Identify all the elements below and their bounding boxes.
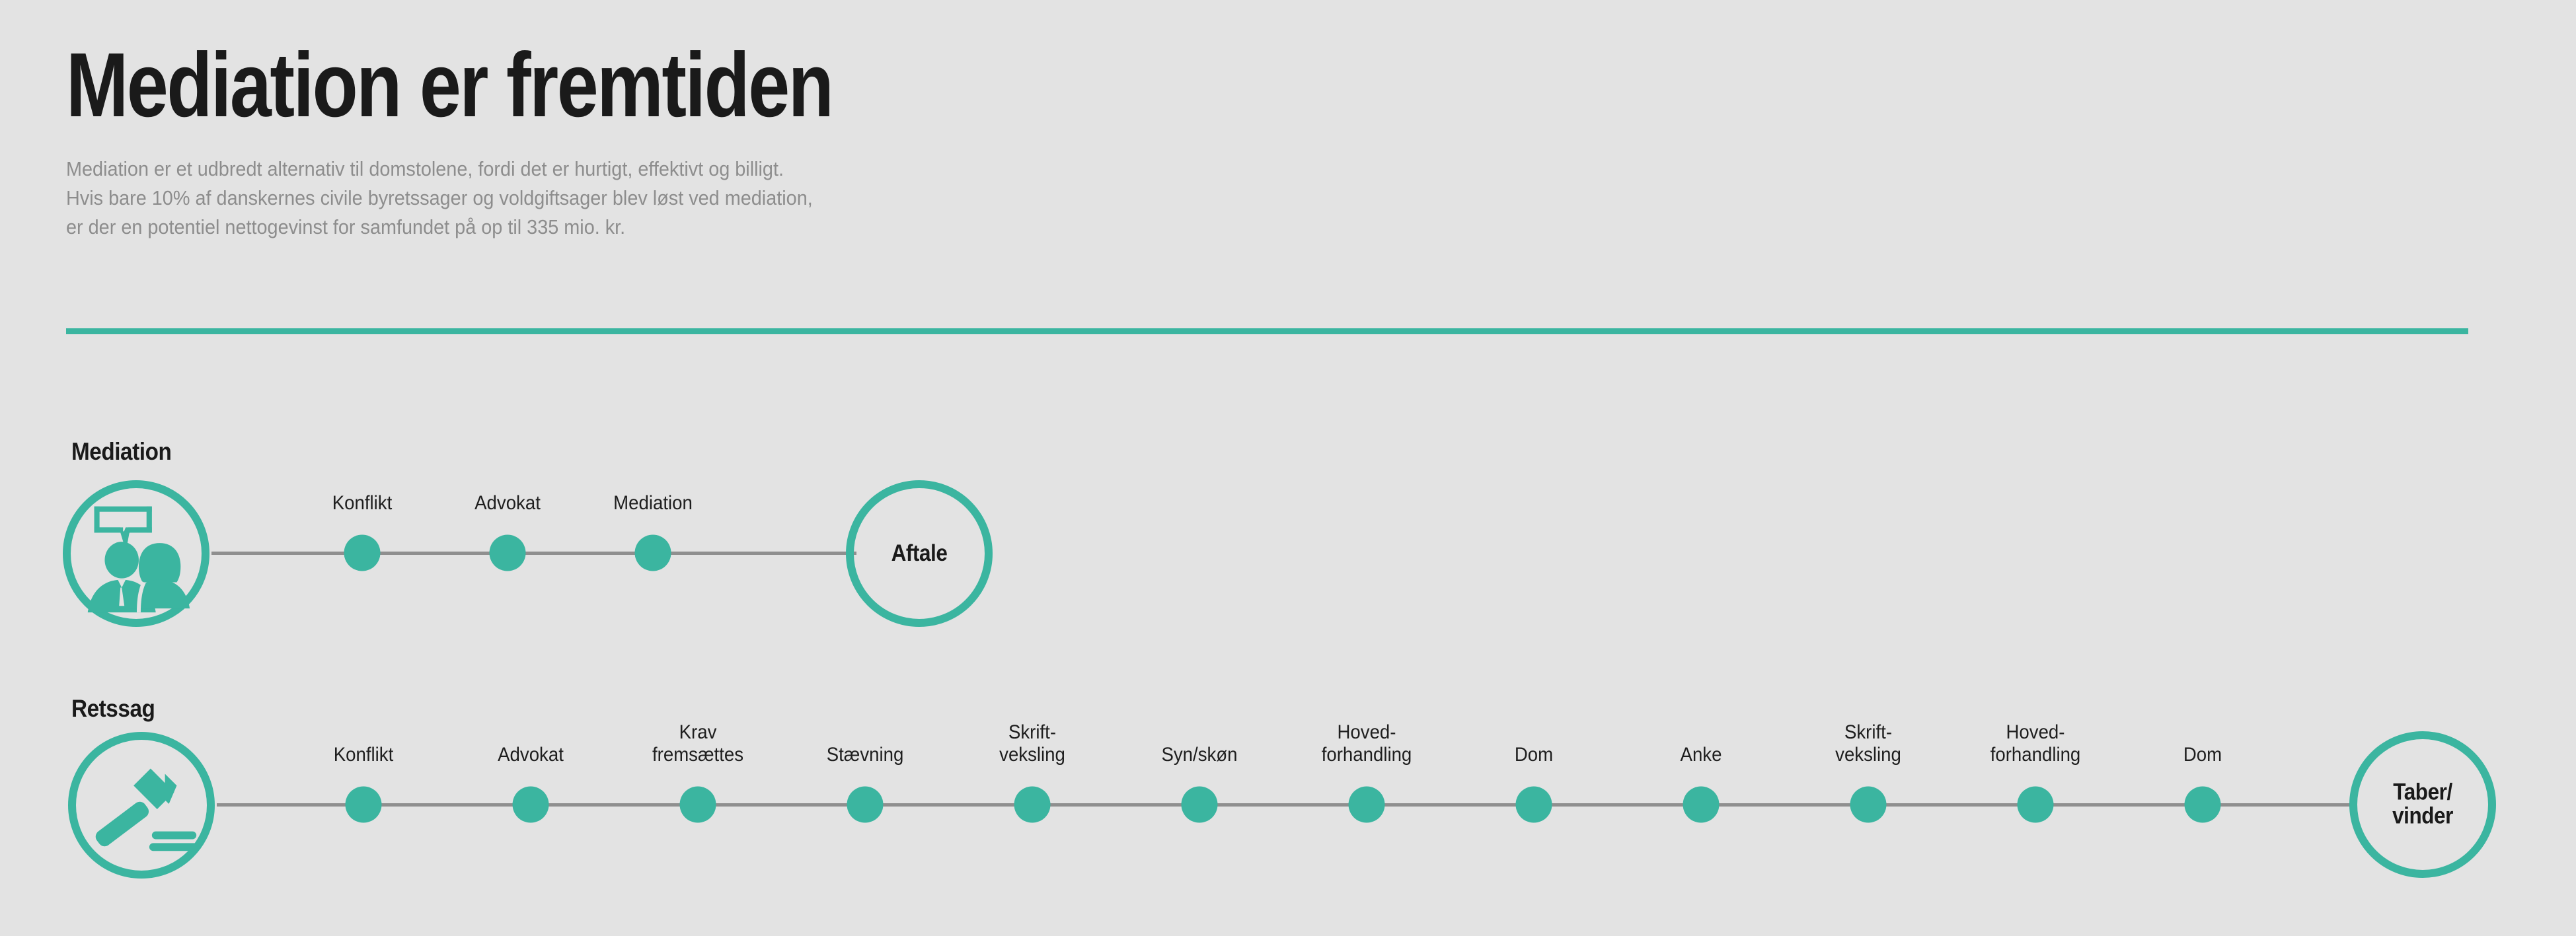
label-line: Aftale [860, 542, 978, 565]
infographic-canvas: Mediation er fremtiden Mediation er et u… [0, 0, 2576, 936]
label-line: vinder [2364, 805, 2481, 828]
label-line: Mediation [613, 492, 693, 515]
retssag-node-label-anke: Anke [1679, 744, 1724, 766]
retssag-node-staevning[interactable] [847, 787, 884, 823]
mediation-outcome-label: Aftale [854, 542, 985, 565]
mediation-row-label: Mediation [71, 438, 171, 466]
label-line: Hoved- [1990, 721, 2081, 744]
mediation-node-label-mediation: Mediation [610, 492, 696, 515]
label-line: Syn/skøn [1161, 744, 1237, 766]
mediation-node-label-konflikt: Konflikt [330, 492, 395, 515]
label-line: veksling [1835, 744, 1901, 766]
label-line: forhandling [1990, 744, 2081, 766]
label-line: Skrift- [999, 721, 1065, 744]
mediation-node-mediation[interactable] [635, 535, 671, 571]
retssag-node-label-hovedforhandling-2: Hoved- forhandling [1987, 721, 2084, 766]
label-line: Anke [1681, 744, 1722, 766]
retssag-node-krav-fremsaettes[interactable] [680, 787, 716, 823]
mediation-outcome-circle-aftale[interactable]: Aftale [846, 480, 993, 627]
label-line: Stævning [827, 744, 904, 766]
label-line: Dom [2183, 744, 2222, 766]
retssag-node-advokat[interactable] [513, 787, 549, 823]
label-line: Konflikt [334, 744, 394, 766]
retssag-node-label-dom-2: Dom [2181, 744, 2223, 766]
retssag-node-skriftveksling-1[interactable] [1014, 787, 1051, 823]
retssag-node-hovedforhandling-1[interactable] [1349, 787, 1385, 823]
retssag-node-syn-skoen[interactable] [1182, 787, 1218, 823]
header: Mediation er fremtiden Mediation er et u… [66, 40, 2445, 242]
retssag-row-label: Retssag [71, 695, 155, 723]
mediation-node-label-advokat: Advokat [472, 492, 543, 515]
label-line: Skrift- [1835, 721, 1901, 744]
subtitle-line-2: Hvis bare 10% af danskernes civile byret… [66, 184, 2279, 213]
retssag-node-label-dom-1: Dom [1513, 744, 1554, 766]
label-line: Hoved- [1322, 721, 1412, 744]
label-line: Advokat [498, 744, 564, 766]
label-line: Dom [1515, 744, 1553, 766]
retssag-outcome-circle-taber-vinder[interactable]: Taber/ vinder [2349, 731, 2496, 878]
retssag-node-skriftveksling-2[interactable] [1850, 787, 1887, 823]
header-divider [66, 328, 2468, 334]
mediation-node-advokat[interactable] [490, 535, 526, 571]
retssag-node-label-konflikt: Konflikt [331, 744, 396, 766]
subtitle-line-1: Mediation er et udbredt alternativ til d… [66, 155, 2279, 184]
retssag-outcome-label: Taber/ vinder [2357, 781, 2488, 829]
label-line: Taber/ [2364, 781, 2481, 805]
label-line: veksling [999, 744, 1065, 766]
retssag-node-label-skriftveksling-1: Skrift- veksling [997, 721, 1068, 766]
retssag-node-label-advokat: Advokat [495, 744, 566, 766]
retssag-node-label-staevning: Stævning [823, 744, 907, 766]
subtitle-line-3: er der en potentiel nettogevinst for sam… [66, 213, 2279, 242]
page-title: Mediation er fremtiden [66, 40, 2017, 131]
retssag-node-label-skriftveksling-2: Skrift- veksling [1833, 721, 1904, 766]
label-line: Konflikt [332, 492, 393, 515]
mediation-people-icon [63, 480, 209, 627]
label-line: Krav [652, 721, 743, 744]
retssag-node-dom-2[interactable] [2185, 787, 2221, 823]
retssag-node-label-hovedforhandling-1: Hoved- forhandling [1318, 721, 1416, 766]
mediation-connector-line [211, 552, 856, 555]
label-line: fremsættes [652, 744, 743, 766]
gavel-icon [68, 732, 215, 879]
retssag-node-dom-1[interactable] [1516, 787, 1552, 823]
retssag-node-anke[interactable] [1683, 787, 1720, 823]
retssag-node-hovedforhandling-2[interactable] [2018, 787, 2054, 823]
mediation-node-konflikt[interactable] [344, 535, 381, 571]
retssag-node-konflikt[interactable] [346, 787, 382, 823]
subtitle: Mediation er et udbredt alternativ til d… [66, 155, 2279, 242]
label-line: forhandling [1322, 744, 1412, 766]
retssag-node-label-syn-skoen: Syn/skøn [1158, 744, 1240, 766]
label-line: Advokat [474, 492, 541, 515]
retssag-node-label-krav-fremsaettes: Krav fremsættes [648, 721, 747, 766]
